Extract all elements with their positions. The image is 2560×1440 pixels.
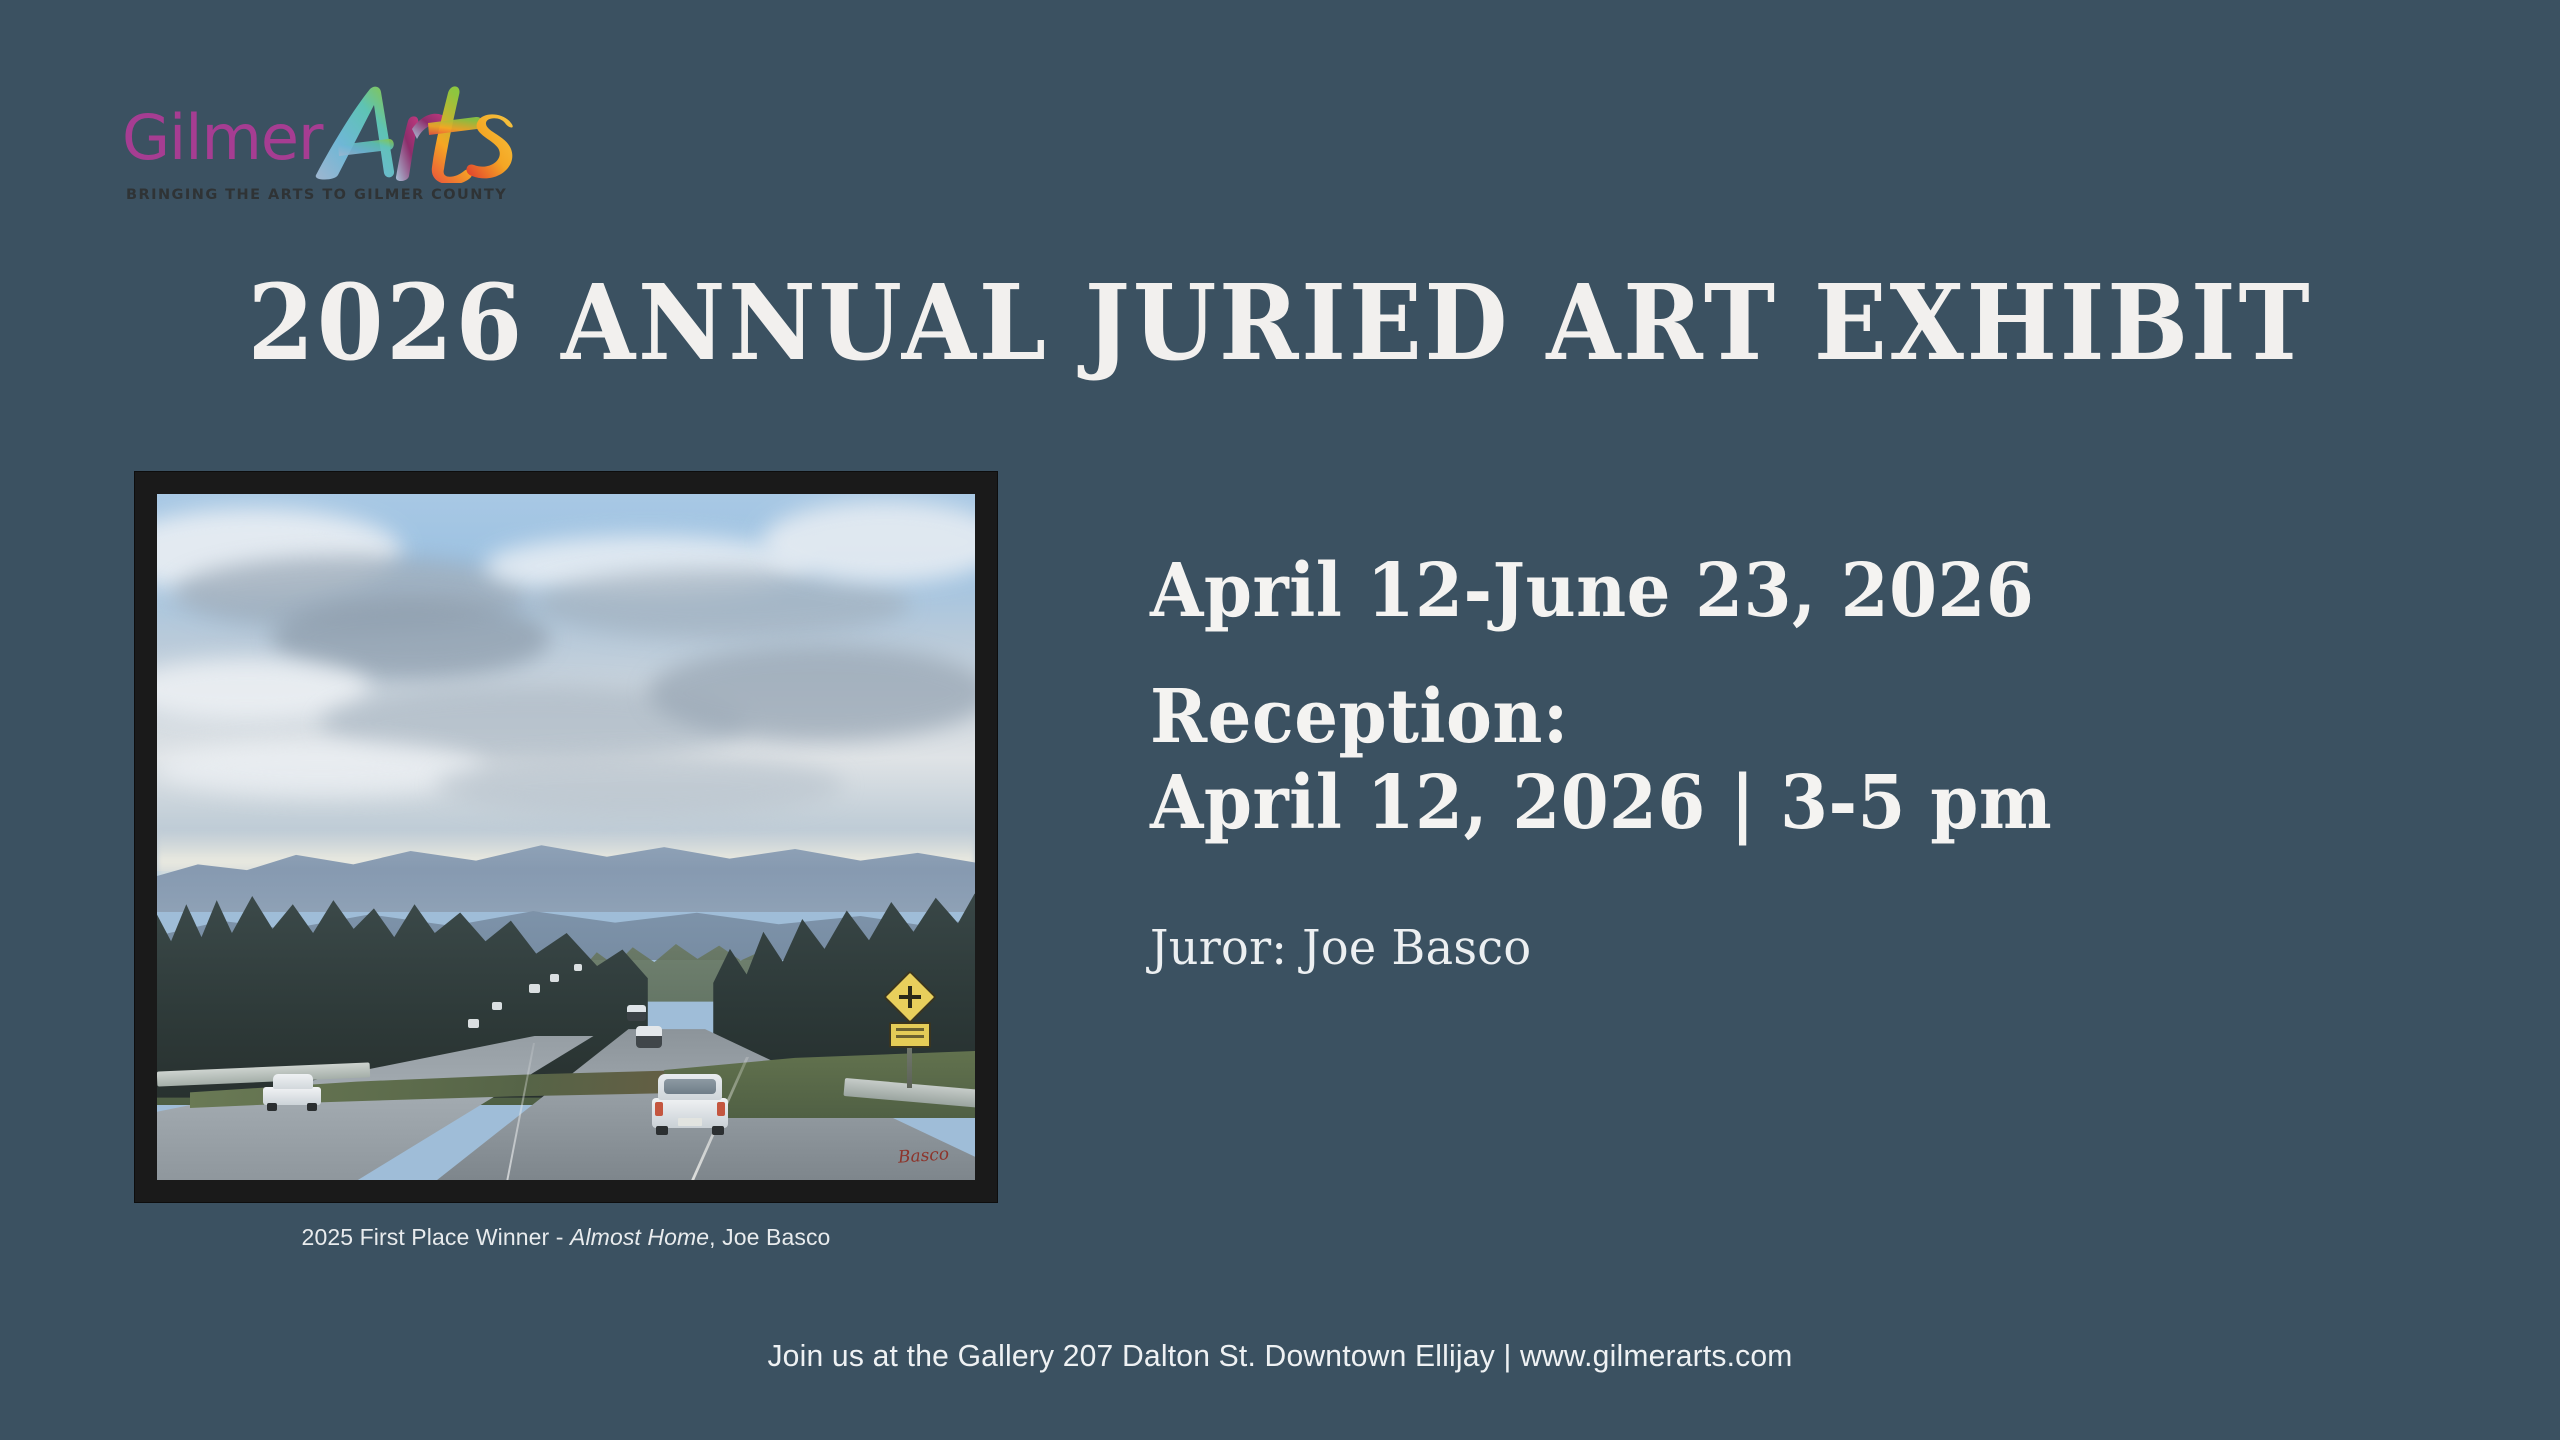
caption-suffix: , Joe Basco bbox=[709, 1224, 830, 1250]
painting-vehicle-distant bbox=[492, 1002, 502, 1010]
logo-text-arts bbox=[308, 79, 518, 183]
painting-vehicle-distant bbox=[529, 984, 540, 993]
artwork-painting: Basco bbox=[157, 494, 975, 1180]
painting-vehicle-distant bbox=[468, 1019, 479, 1028]
event-info-block: April 12-June 23, 2026 Reception: April … bbox=[1150, 548, 2450, 976]
juror-line: Juror: Joe Basco bbox=[1150, 920, 2398, 976]
logo-wordmark: Gilmer bbox=[122, 95, 522, 181]
painting-white-car-left bbox=[263, 1074, 321, 1112]
painting-vehicle-distant bbox=[550, 974, 559, 982]
reception-datetime: April 12, 2026 | 3-5 pm bbox=[1150, 760, 2359, 846]
gilmer-arts-logo[interactable]: Gilmer bbox=[122, 95, 522, 225]
painting-vehicle-far-1 bbox=[636, 1026, 662, 1048]
caption-title: Almost Home bbox=[570, 1224, 709, 1250]
exhibit-dates: April 12-June 23, 2026 bbox=[1150, 548, 2359, 634]
artwork-block: Basco 2025 First Place Winner - Almost H… bbox=[135, 472, 997, 1251]
reception-label: Reception: bbox=[1150, 674, 2359, 760]
footer-address[interactable]: Join us at the Gallery 207 Dalton St. Do… bbox=[38, 1338, 2521, 1374]
page-title: 2026 ANNUAL JURIED ART EXHIBIT bbox=[102, 268, 2457, 378]
caption-prefix: 2025 First Place Winner - bbox=[302, 1224, 570, 1250]
painting-crossroad-sign bbox=[881, 978, 939, 1088]
painting-white-truck bbox=[652, 1074, 728, 1134]
artwork-frame: Basco bbox=[135, 472, 997, 1202]
artwork-caption: 2025 First Place Winner - Almost Home, J… bbox=[135, 1224, 997, 1251]
painting-vehicle-far-2 bbox=[627, 1005, 646, 1021]
logo-text-gilmer: Gilmer bbox=[122, 95, 323, 181]
logo-tagline: BRINGING THE ARTS TO GILMER COUNTY bbox=[126, 187, 507, 203]
painting-vehicle-distant bbox=[574, 964, 582, 971]
painting-signature: Basco bbox=[897, 1144, 949, 1168]
